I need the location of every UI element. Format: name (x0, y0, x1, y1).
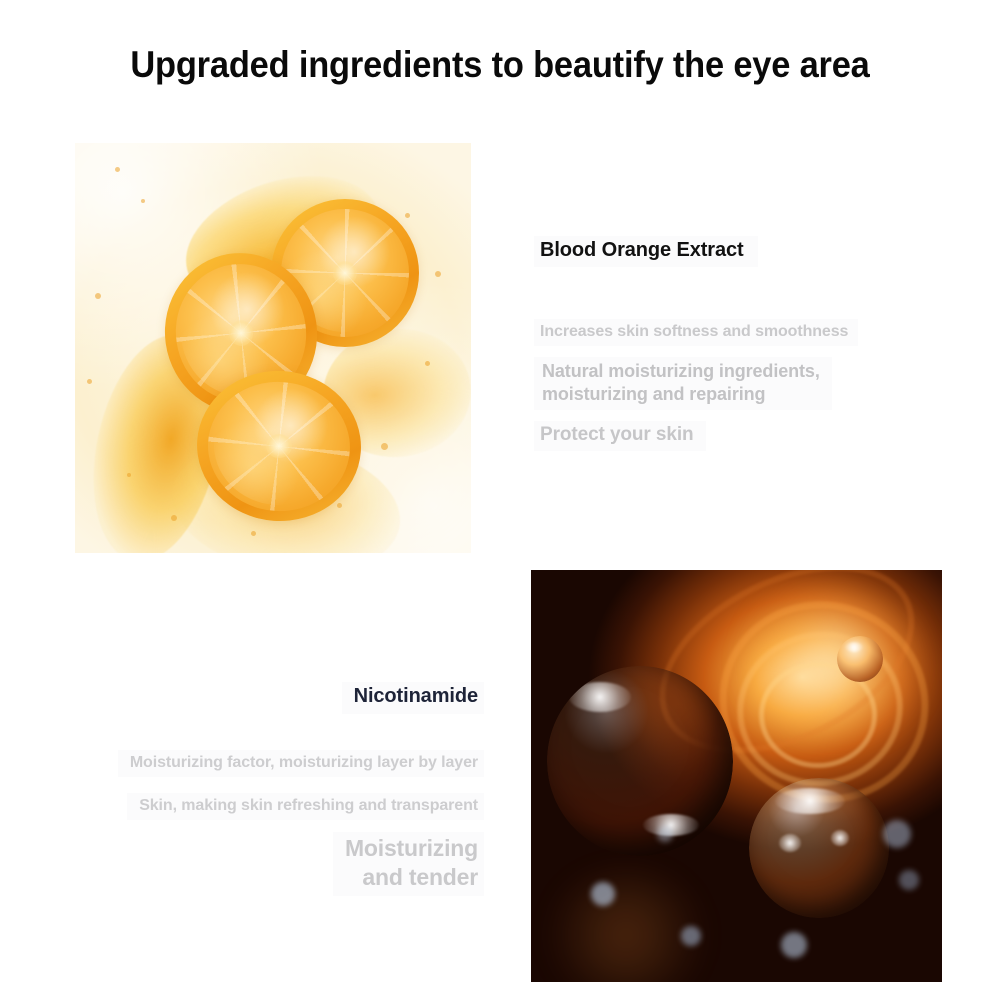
page-title: Upgraded ingredients to beautify the eye… (35, 44, 965, 86)
juice-droplet (425, 361, 430, 366)
sphere-highlight (831, 830, 849, 846)
ingredient-heading: Nicotinamide (342, 682, 484, 714)
orange-splash-photo (75, 143, 471, 553)
glass-sphere (837, 636, 883, 682)
juice-droplet (405, 213, 410, 218)
bokeh-dot (781, 932, 807, 958)
bokeh-dot (883, 820, 911, 848)
juice-droplet (251, 531, 256, 536)
juice-droplet (115, 167, 120, 172)
juice-droplet (87, 379, 92, 384)
ingredient-benefit-text: moisturizing and repairing (542, 384, 765, 404)
juice-droplet (127, 473, 131, 477)
ingredient-block-nicotinamide: Nicotinamide Moisturizing factor, moistu… (60, 682, 484, 896)
glass-sphere (547, 666, 733, 856)
glass-sphere (749, 778, 889, 918)
juice-droplet (337, 503, 342, 508)
sphere-highlight (779, 834, 801, 852)
amber-spheres-photo (531, 570, 942, 982)
ingredient-benefit-line: Skin, making skin refreshing and transpa… (127, 793, 484, 820)
ingredient-benefit-text: and tender (362, 864, 478, 890)
ingredient-benefit-line: Moisturizing factor, moisturizing layer … (118, 750, 484, 777)
sphere-highlight (845, 642, 863, 652)
juice-droplet (435, 271, 441, 277)
orange-core (333, 261, 357, 285)
bokeh-dot (899, 870, 919, 890)
ingredient-benefit-line: Protect your skin (534, 421, 706, 451)
bokeh-dot (591, 882, 615, 906)
marketing-banner: Upgraded ingredients to beautify the eye… (0, 0, 1000, 1000)
juice-droplet (95, 293, 101, 299)
sphere-highlight (775, 788, 845, 814)
juice-droplet (381, 443, 388, 450)
ingredient-benefit-text: Moisturizing (345, 835, 478, 861)
juice-droplet (171, 515, 177, 521)
ingredient-benefit-line: Increases skin softness and smoothness (534, 319, 858, 346)
light-glow (541, 870, 711, 982)
bokeh-dot (657, 826, 673, 842)
ingredient-benefit-text: Natural moisturizing ingredients, (542, 361, 820, 381)
ingredient-benefit-line: Moisturizing and tender (333, 832, 484, 896)
sphere-highlight (569, 682, 631, 712)
ingredient-block-blood-orange: Blood Orange Extract Increases skin soft… (534, 236, 906, 451)
bokeh-dot (681, 926, 701, 946)
juice-droplet (141, 199, 145, 203)
ingredient-heading: Blood Orange Extract (534, 236, 758, 267)
ingredient-benefit-line: Natural moisturizing ingredients, moistu… (534, 357, 832, 410)
